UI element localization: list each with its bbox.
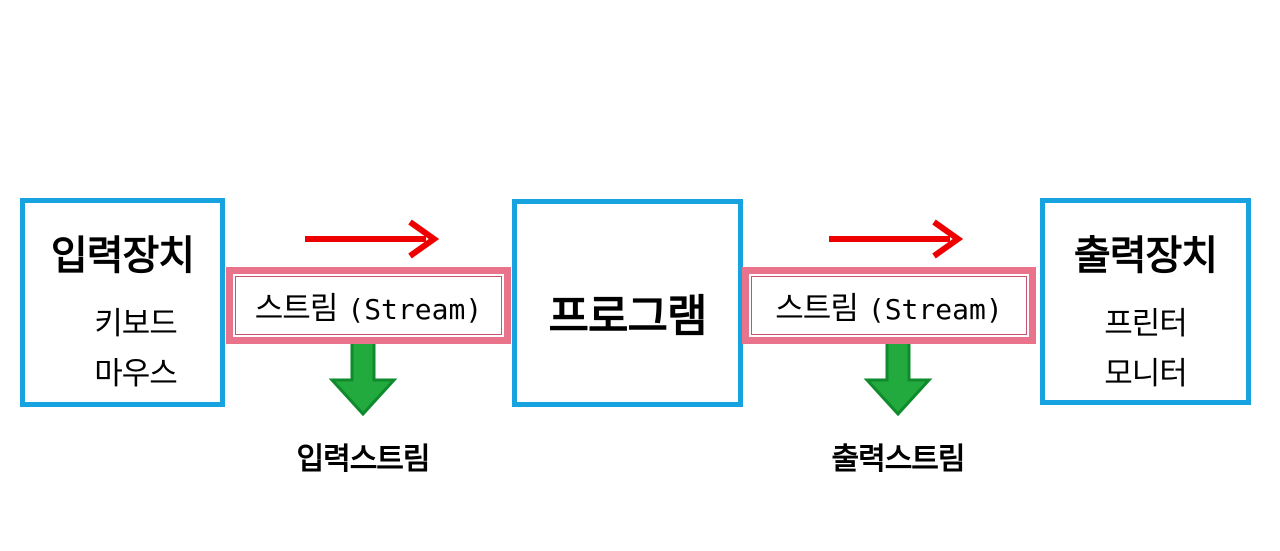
input-stream-label: 스트림(Stream) [255, 283, 482, 328]
diagram-canvas: 입력장치 키보드 마우스 프로그램 출력장치 프린터 모니터 스트림(Strea… [0, 0, 1280, 551]
input-flow-arrow-icon [302, 218, 442, 260]
output-device-title: 출력장치 [1045, 223, 1246, 281]
output-stream-caption: 출력스트림 [798, 434, 998, 478]
output-stream-label: 스트림(Stream) [775, 283, 1002, 328]
output-stream-box: 스트림(Stream) [742, 267, 1036, 344]
input-stream-caption: 입력스트림 [263, 434, 463, 478]
input-stream-label-korean: 스트림 [255, 291, 338, 326]
input-device-line-1: 키보드 [25, 298, 220, 343]
output-device-line-1: 프린터 [1045, 298, 1246, 343]
program-box: 프로그램 [512, 199, 743, 407]
input-device-title: 입력장치 [25, 223, 220, 281]
output-stream-label-korean: 스트림 [775, 291, 858, 326]
output-device-line-2: 모니터 [1045, 348, 1246, 393]
output-stream-label-english: (Stream) [868, 293, 1003, 326]
input-device-line-2: 마우스 [25, 348, 220, 393]
output-device-box: 출력장치 프린터 모니터 [1040, 198, 1251, 405]
program-title: 프로그램 [517, 280, 738, 344]
output-flow-arrow-icon [826, 218, 966, 260]
input-device-box: 입력장치 키보드 마우스 [20, 198, 225, 407]
input-stream-box: 스트림(Stream) [226, 267, 511, 344]
input-stream-label-english: (Stream) [347, 293, 482, 326]
